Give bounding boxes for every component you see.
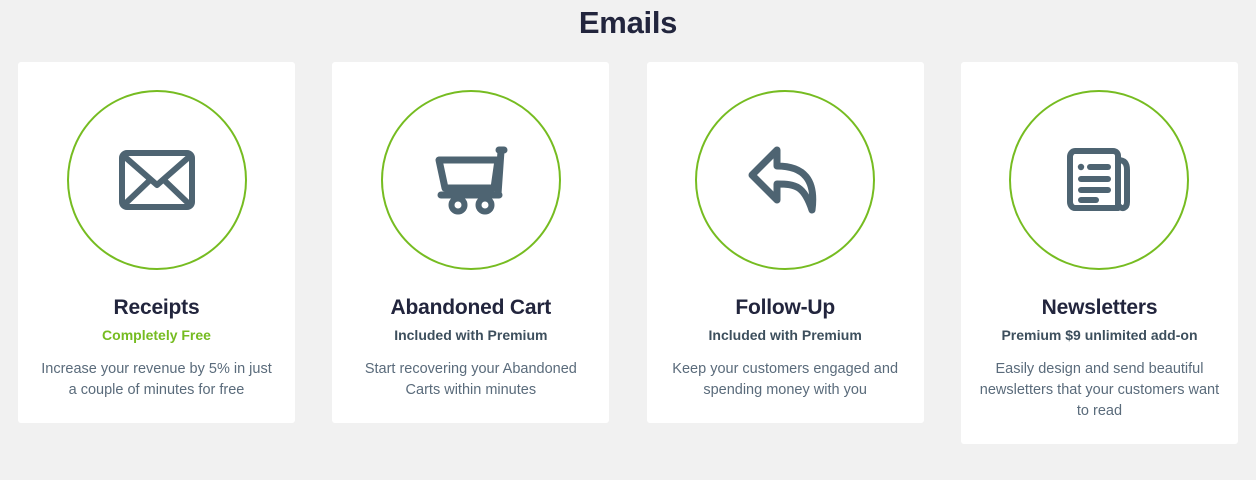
card-title: Abandoned Cart — [391, 296, 552, 320]
icon-ring — [381, 90, 561, 270]
card-title: Newsletters — [1042, 296, 1158, 320]
newspaper-icon — [1063, 146, 1135, 214]
icon-ring — [1009, 90, 1189, 270]
feature-card-receipts[interactable]: Receipts Completely Free Increase your r… — [18, 62, 295, 423]
page-title: Emails — [0, 0, 1256, 46]
card-subtitle: Completely Free — [102, 327, 211, 344]
icon-ring — [67, 90, 247, 270]
card-subtitle: Included with Premium — [709, 327, 862, 344]
feature-cards-row: Receipts Completely Free Increase your r… — [18, 62, 1238, 444]
card-description: Easily design and send beautiful newslet… — [979, 359, 1219, 422]
card-subtitle: Included with Premium — [394, 327, 547, 344]
card-title: Follow-Up — [735, 296, 835, 320]
card-description: Increase your revenue by 5% in just a co… — [37, 359, 277, 401]
feature-card-newsletters[interactable]: Newsletters Premium $9 unlimited add-on … — [961, 62, 1238, 444]
icon-ring — [695, 90, 875, 270]
feature-card-follow-up[interactable]: Follow-Up Included with Premium Keep you… — [647, 62, 924, 423]
card-title: Receipts — [114, 296, 200, 320]
feature-card-abandoned-cart[interactable]: Abandoned Cart Included with Premium Sta… — [332, 62, 609, 423]
card-description: Keep your customers engaged and spending… — [665, 359, 905, 401]
card-subtitle: Premium $9 unlimited add-on — [1001, 327, 1197, 344]
envelope-icon — [119, 150, 195, 210]
reply-arrow-icon — [746, 144, 824, 216]
card-description: Start recovering your Abandoned Carts wi… — [351, 359, 591, 401]
shopping-cart-icon — [433, 144, 509, 216]
